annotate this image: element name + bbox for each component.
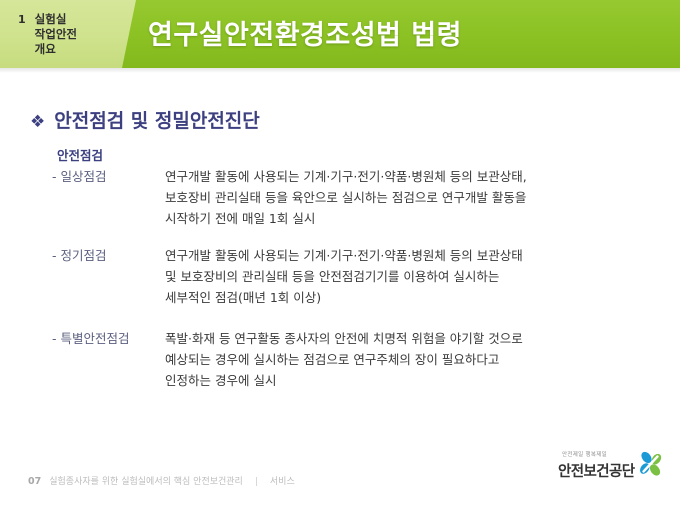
footer-title: 실험종사자를 위한 실험실에서의 핵심 안전보건관리 [49, 474, 243, 487]
footer-page-number: 07 [28, 476, 41, 487]
slide-header: 1 실험실 작업안전 개요 연구실안전환경조성법 법령 [0, 0, 680, 68]
list-item-label: - 일상점검 [52, 166, 165, 187]
slide-content: ❖ 안전점검 및 정밀안전진단 안전점검 - 일상점검 연구개발 활동에 사용되… [0, 68, 680, 438]
list-item: - 일상점검 연구개발 활동에 사용되는 기계·기구·전기·약품·병원체 등의 … [52, 166, 662, 229]
list-item: - 특별안전점검 폭발·화재 등 연구활동 종사자의 안전에 치명적 위험을 야… [52, 328, 662, 391]
pinwheel-logo-icon [636, 449, 666, 479]
list-item: - 정기점검 연구개발 활동에 사용되는 기계·기구·전기·약품·병원체 등의 … [52, 245, 662, 308]
chapter-tab: 1 실험실 작업안전 개요 [18, 12, 138, 57]
chapter-number: 1 [18, 12, 26, 27]
logo-name: 안전보건공단 [558, 460, 634, 481]
footer-separator: | [251, 477, 262, 487]
section-heading-label: 안전점검 및 정밀안전진단 [54, 110, 260, 132]
list-item-body: 폭발·화재 등 연구활동 종사자의 안전에 치명적 위험을 야기할 것으로 예상… [165, 328, 662, 391]
chapter-title: 실험실 작업안전 개요 [35, 12, 77, 57]
list-item-label: - 특별안전점검 [52, 328, 165, 349]
list-item-label: - 정기점검 [52, 245, 165, 266]
list-item-body: 연구개발 활동에 사용되는 기계·기구·전기·약품·병원체 등의 보관상태 및 … [165, 245, 662, 308]
diamond-bullet-icon: ❖ [30, 111, 45, 133]
list-item-body: 연구개발 활동에 사용되는 기계·기구·전기·약품·병원체 등의 보관상태, 보… [165, 166, 662, 229]
footer-service-label: 서비스 [270, 474, 295, 487]
slide-footer: 07 실험종사자를 위한 실험실에서의 핵심 안전보건관리 | 서비스 안전제일… [0, 438, 680, 510]
footer-text-group: 07 실험종사자를 위한 실험실에서의 핵심 안전보건관리 | 서비스 [28, 474, 295, 487]
logo-tagline: 안전제일 행복제일 [562, 450, 607, 458]
kosha-logo: 안전제일 행복제일 안전보건공단 [548, 448, 668, 494]
sub-heading-label: 안전점검 [57, 145, 103, 164]
page-title: 연구실안전환경조성법 법령 [148, 13, 462, 52]
section-heading: ❖ 안전점검 및 정밀안전진단 [30, 110, 260, 133]
